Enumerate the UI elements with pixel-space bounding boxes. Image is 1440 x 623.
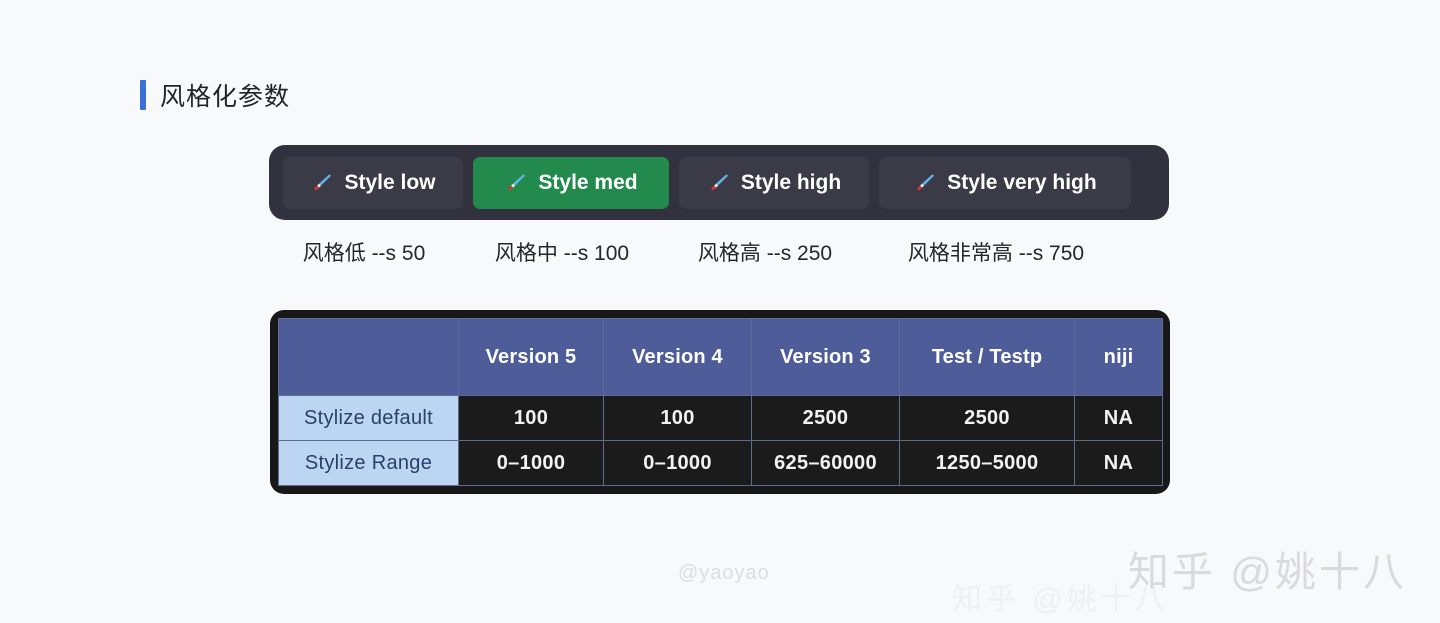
title-accent-bar <box>140 80 146 110</box>
table-body: Stylize default 100 100 2500 2500 NA Sty… <box>279 396 1163 486</box>
table-corner-cell <box>279 319 459 396</box>
page-title-text: 风格化参数 <box>160 77 290 113</box>
table-row: Stylize Range 0–1000 0–1000 625–60000 12… <box>279 441 1163 486</box>
column-header-version-5: Version 5 <box>459 319 604 396</box>
cell-range-version-3: 625–60000 <box>752 441 900 486</box>
style-button-low[interactable]: Style low <box>283 157 463 209</box>
column-header-test-testp: Test / Testp <box>900 319 1075 396</box>
cell-default-test-testp: 2500 <box>900 396 1075 441</box>
paintbrush-icon <box>504 171 528 195</box>
style-caption-very-high: 风格非常高 --s 750 <box>865 237 1127 267</box>
cell-default-niji: NA <box>1075 396 1163 441</box>
style-caption-low: 风格低 --s 50 <box>269 237 459 267</box>
style-button-very-high-label: Style very high <box>947 171 1096 195</box>
style-caption-row: 风格低 --s 50 风格中 --s 100 风格高 --s 250 风格非常高… <box>269 232 1169 272</box>
row-label-stylize-default: Stylize default <box>279 396 459 441</box>
style-button-panel: Style low Style med Style high Style ver… <box>269 145 1169 220</box>
paintbrush-icon <box>310 171 334 195</box>
watermark-yaoyao: @yaoyao <box>678 562 770 585</box>
column-header-niji: niji <box>1075 319 1163 396</box>
row-label-stylize-range: Stylize Range <box>279 441 459 486</box>
style-button-med-label: Style med <box>538 171 637 195</box>
page-title: 风格化参数 <box>140 77 290 113</box>
paintbrush-icon <box>707 171 731 195</box>
watermark-zhihu: 知乎 @姚十八 <box>1128 538 1407 598</box>
cell-range-version-5: 0–1000 <box>459 441 604 486</box>
style-button-very-high[interactable]: Style very high <box>879 157 1131 209</box>
paintbrush-icon <box>913 171 937 195</box>
table-header: Version 5 Version 4 Version 3 Test / Tes… <box>279 319 1163 396</box>
style-button-low-label: Style low <box>344 171 435 195</box>
column-header-version-3: Version 3 <box>752 319 900 396</box>
style-caption-med: 风格中 --s 100 <box>459 237 665 267</box>
style-caption-high: 风格高 --s 250 <box>665 237 865 267</box>
cell-default-version-4: 100 <box>604 396 752 441</box>
cell-range-niji: NA <box>1075 441 1163 486</box>
table-row: Stylize default 100 100 2500 2500 NA <box>279 396 1163 441</box>
cell-default-version-3: 2500 <box>752 396 900 441</box>
column-header-version-4: Version 4 <box>604 319 752 396</box>
style-button-high[interactable]: Style high <box>679 157 869 209</box>
style-button-high-label: Style high <box>741 171 841 195</box>
cell-range-test-testp: 1250–5000 <box>900 441 1075 486</box>
stylize-table-frame: Version 5 Version 4 Version 3 Test / Tes… <box>270 310 1170 494</box>
cell-range-version-4: 0–1000 <box>604 441 752 486</box>
stylize-table: Version 5 Version 4 Version 3 Test / Tes… <box>278 318 1163 486</box>
style-button-med[interactable]: Style med <box>473 157 669 209</box>
table-header-row: Version 5 Version 4 Version 3 Test / Tes… <box>279 319 1163 396</box>
cell-default-version-5: 100 <box>459 396 604 441</box>
